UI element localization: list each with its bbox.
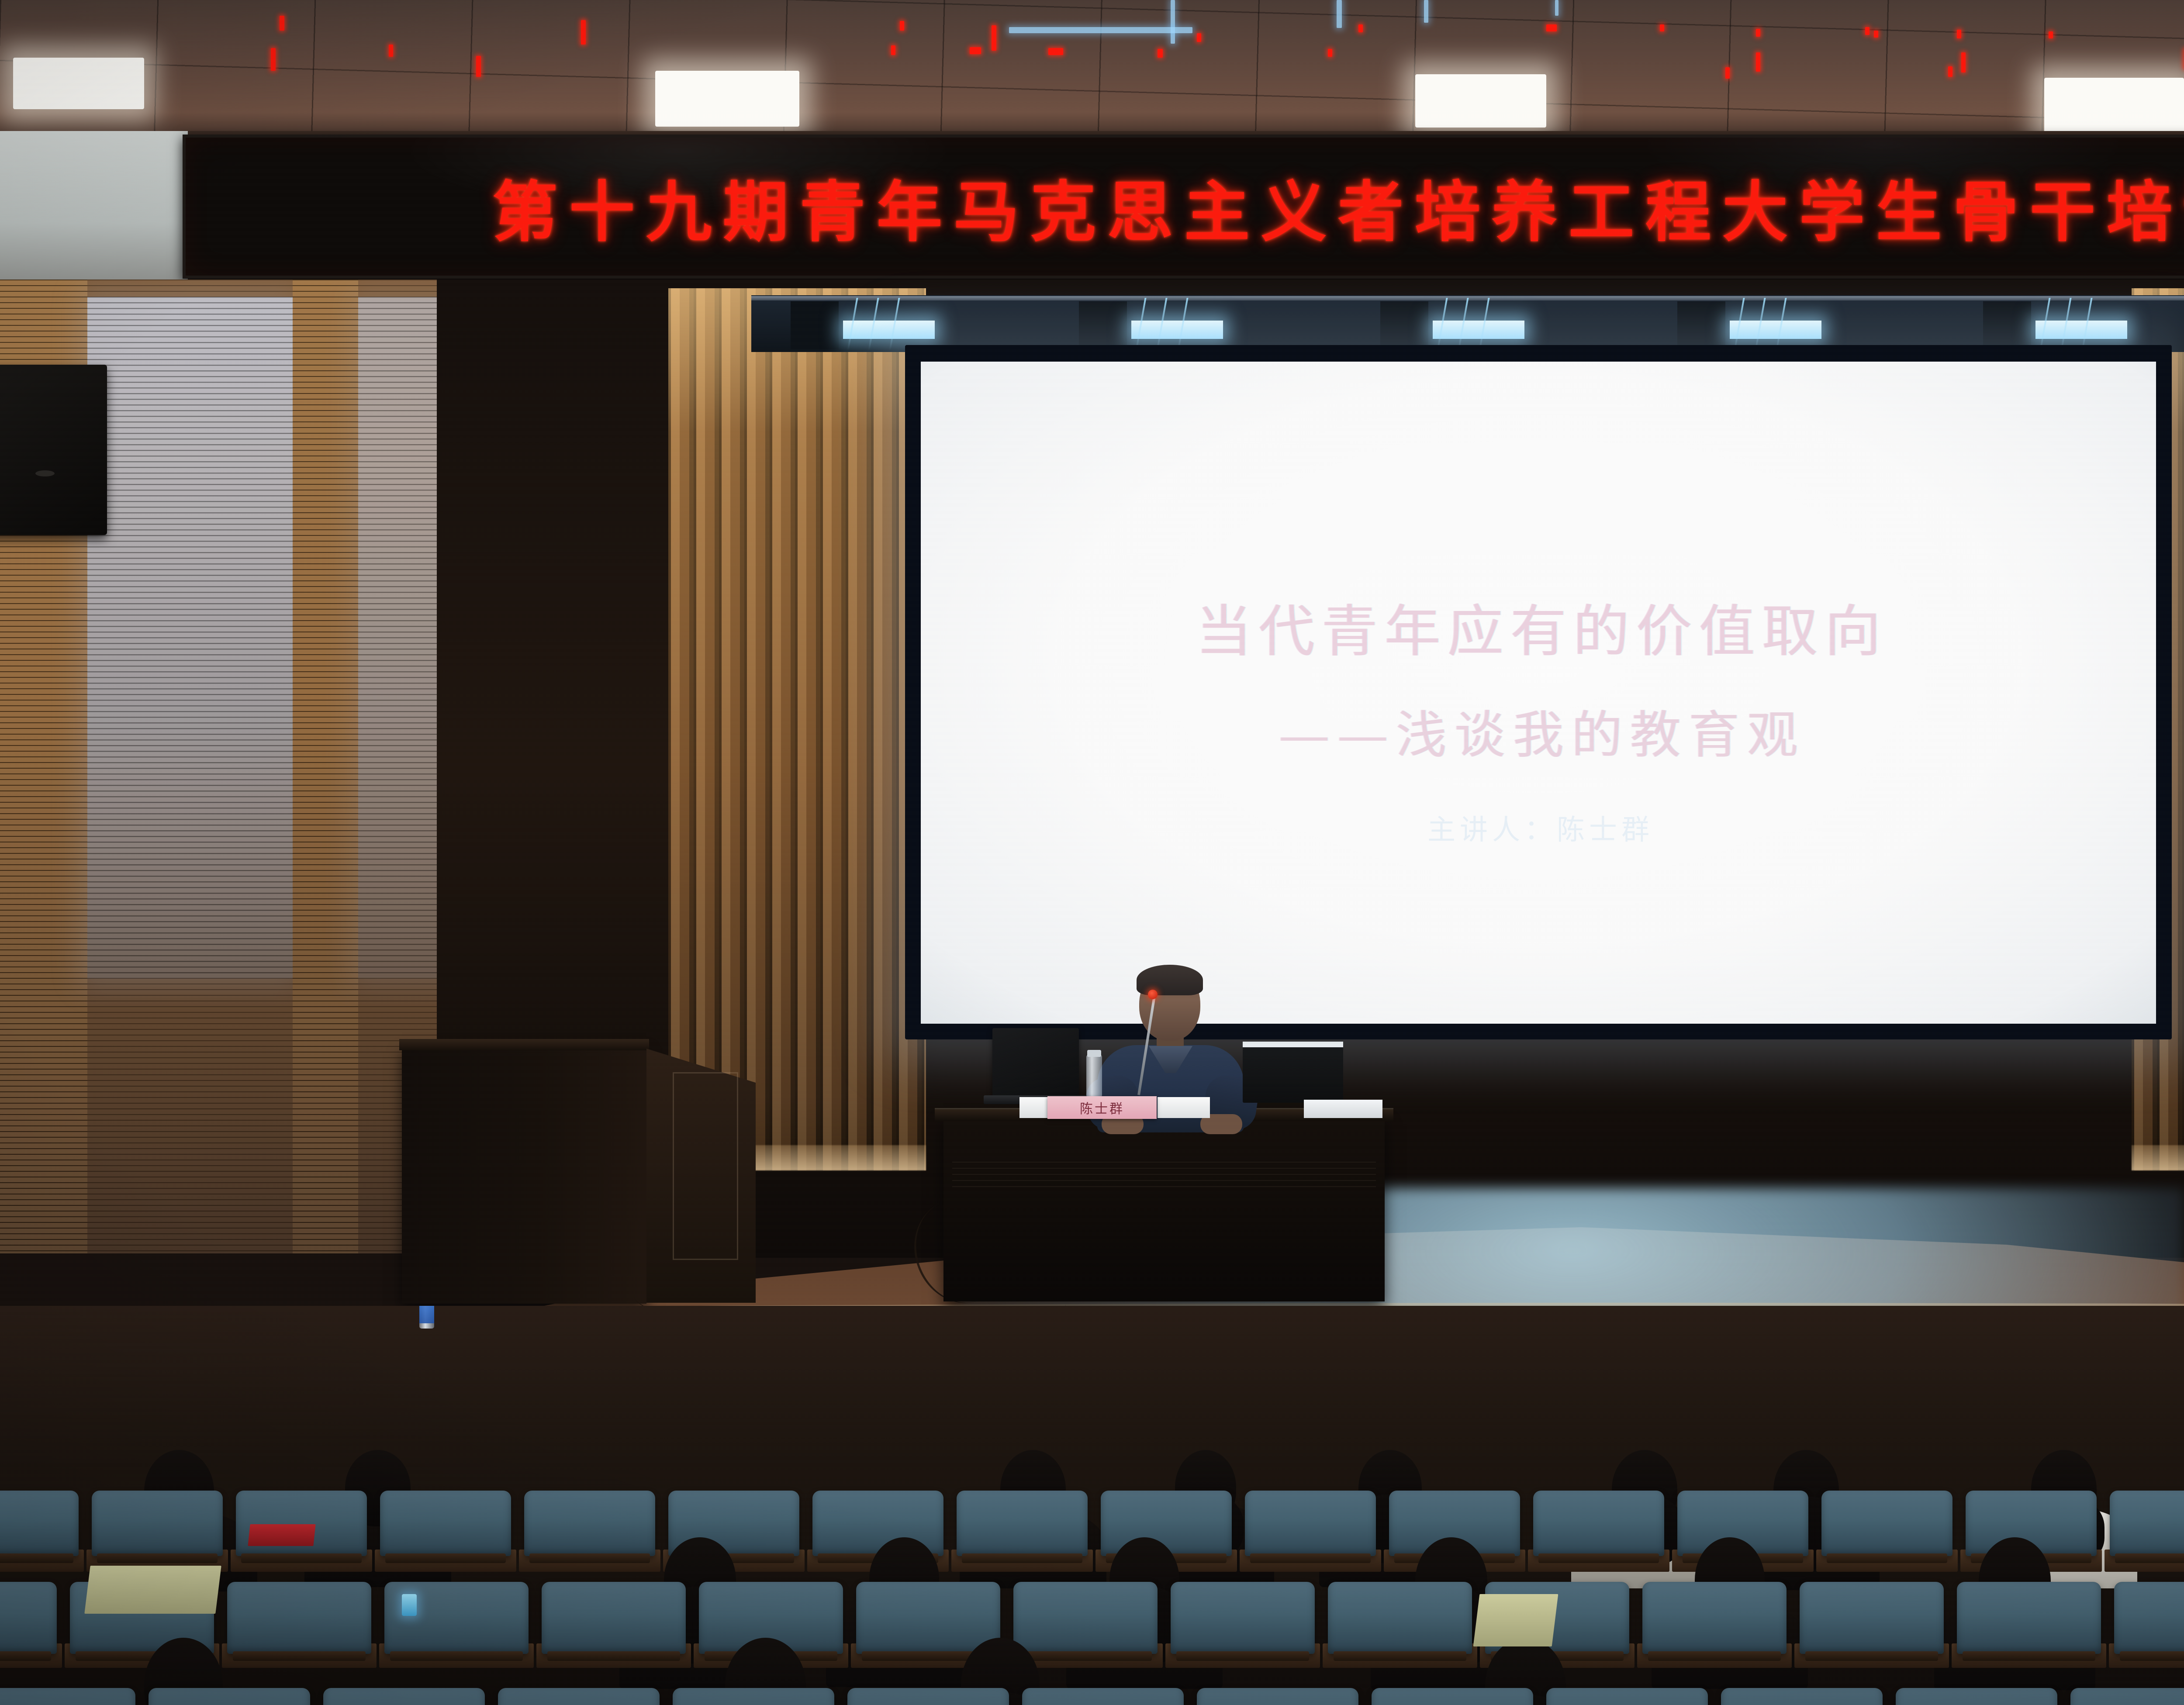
audience-seat (524, 1491, 655, 1556)
microphone-indicator-light (1148, 990, 1158, 999)
audience-seat (957, 1491, 1088, 1556)
truss-fixture-body-1 (791, 301, 839, 349)
ceiling-red-mark-7 (992, 25, 996, 51)
truss-lamp-2 (1131, 321, 1223, 339)
ceiling-blue-mark-4 (1009, 27, 1192, 33)
audience-seat (1197, 1688, 1358, 1705)
ceiling-blue-mark-5 (1555, 0, 1559, 16)
ceiling-light-3 (1415, 74, 1546, 128)
audience-seat (856, 1582, 1000, 1654)
ceiling-light-2 (655, 71, 799, 127)
audience-seat (1800, 1582, 1944, 1654)
left-side-wall (0, 280, 463, 1253)
audience-seat (1642, 1582, 1787, 1654)
ceiling-red-mark-6 (900, 21, 904, 31)
secondary-monitor (1243, 1044, 1343, 1103)
ceiling-red-mark-1 (280, 16, 284, 31)
ceiling-red-mark-12 (1158, 49, 1163, 58)
ceiling-red-mark-15 (1546, 24, 1557, 31)
ceiling-blue-mark-1 (1171, 0, 1175, 44)
slide-speaker-line: 主讲人：陈士群 (1423, 808, 1654, 848)
audience-seat (1957, 1582, 2101, 1654)
podium-top-surface (399, 1039, 649, 1050)
stage-podium (402, 1046, 646, 1304)
ceiling-blue-mark-3 (1424, 0, 1428, 23)
ceiling-red-mark-22 (1756, 52, 1760, 72)
audience-seat (227, 1582, 371, 1654)
audience-seat (323, 1688, 485, 1705)
audience-seat (2110, 1491, 2184, 1556)
ceiling-red-mark-25 (1948, 66, 1952, 77)
audience-seat (1328, 1582, 1472, 1654)
ceiling-red-mark-23 (1961, 52, 1966, 72)
audience-seat (1721, 1688, 1883, 1705)
audience-seat (1245, 1491, 1376, 1556)
ceiling-blue-mark-2 (1337, 0, 1342, 28)
audience-seat (1546, 1688, 1708, 1705)
audience-seat (236, 1491, 367, 1556)
truss-fixture-body-3 (1380, 301, 1428, 349)
presenter-water-bottle (1086, 1055, 1102, 1097)
stage-light-truss (751, 295, 2184, 352)
presenter-hair (1137, 965, 1203, 995)
audience-seat (1533, 1491, 1664, 1556)
presenter-table-skirt (952, 1162, 1376, 1188)
ceiling-red-mark-8 (1197, 33, 1201, 42)
ceiling (0, 0, 2184, 144)
truss-fixture-body-5 (1983, 301, 2031, 349)
curtain-hem-right (2132, 1145, 2184, 1170)
audience-seat (1821, 1491, 1952, 1556)
presenter-table (943, 1118, 1385, 1301)
ceiling-red-mark-20 (1957, 30, 1961, 38)
audience-seat (384, 1582, 529, 1654)
placard-secondary (1304, 1100, 1382, 1118)
audience-seat (1022, 1688, 1184, 1705)
audience-seat (2114, 1582, 2184, 1654)
audience-seat (542, 1582, 686, 1654)
podium-front-trim (673, 1072, 738, 1260)
truss-lamp-3 (1433, 321, 1524, 339)
audience-seat (92, 1491, 223, 1556)
projection-screen: 当代青年应有的价值取向 ——浅谈我的教育观 主讲人：陈士群 (921, 362, 2156, 1024)
ceiling-red-mark-19 (1874, 31, 1878, 38)
audience-seat (1171, 1582, 1315, 1654)
audience-seat (498, 1688, 660, 1705)
truss-fixture-body-2 (1079, 301, 1127, 349)
slide-subtitle: ——浅谈我的教育观 (1271, 694, 1806, 767)
auditorium-photo: 第十九期青年马克思主义者培养工程大学生骨干培训班专题报告 (0, 0, 2184, 1705)
red-booklet (248, 1524, 315, 1546)
truss-lamp-5 (2035, 321, 2127, 339)
audience-seat (0, 1491, 79, 1556)
audience-seat (380, 1491, 511, 1556)
ceiling-red-mark-4 (389, 45, 393, 57)
ceiling-red-mark-21 (2049, 31, 2053, 38)
projection-screen-frame: 当代青年应有的价值取向 ——浅谈我的教育观 主讲人：陈士群 (905, 345, 2172, 1039)
ceiling-red-mark-9 (891, 45, 895, 55)
audience-seat (1896, 1688, 2057, 1705)
audience-seat (673, 1688, 834, 1705)
ceiling-light-1 (13, 58, 144, 109)
placard-left-wing (1019, 1097, 1049, 1118)
truss-lamp-4 (1730, 321, 1821, 339)
audience-area (0, 1306, 2184, 1705)
placard-right-wing (1158, 1097, 1210, 1118)
phone-screen-glow (402, 1594, 417, 1616)
ceiling-red-mark-3 (271, 48, 276, 71)
paper-sheet (1473, 1594, 1559, 1646)
audience-seat (0, 1688, 135, 1705)
led-banner-text: 第十九期青年马克思主义者培养工程大学生骨干培训班专题报告 (186, 138, 2184, 276)
presenter-name-placard: 陈士群 (1047, 1096, 1157, 1119)
audience-seat (0, 1582, 57, 1654)
ceiling-red-mark-17 (1756, 29, 1760, 37)
ceiling-red-mark-14 (1358, 24, 1363, 32)
ceiling-red-mark-2 (581, 20, 586, 45)
audience-seat (1013, 1582, 1158, 1654)
led-banner: 第十九期青年马克思主义者培养工程大学生骨干培训班专题报告 (183, 135, 2184, 279)
slide-title: 当代青年应有的价值取向 (1189, 586, 1888, 667)
audience-seat (149, 1688, 310, 1705)
ceiling-red-mark-5 (476, 56, 481, 77)
presenter-water-bottle-cap (1087, 1050, 1101, 1057)
audience-seat (847, 1688, 1009, 1705)
audience-seat (2070, 1688, 2184, 1705)
ceiling-red-mark-16 (1660, 24, 1664, 31)
truss-fixture-body-4 (1677, 301, 1725, 349)
audience-seat (1372, 1688, 1533, 1705)
wall-left-white-panel (0, 131, 188, 284)
wall-speaker-left (0, 365, 107, 535)
audience-water-bottle-label (419, 1306, 434, 1323)
ceiling-red-mark-13 (1328, 49, 1332, 57)
open-notebook (84, 1566, 221, 1614)
stage-curtain-left (668, 288, 926, 1170)
ceiling-tile-grid (0, 0, 2184, 144)
ceiling-red-mark-24 (1725, 67, 1730, 79)
slide-content: 当代青年应有的价值取向 ——浅谈我的教育观 主讲人：陈士群 (921, 362, 2156, 1024)
laptop-screen (992, 1028, 1079, 1096)
truss-lamp-1 (843, 321, 935, 339)
ceiling-red-mark-10 (970, 47, 981, 54)
ceiling-red-mark-11 (1048, 48, 1063, 55)
ceiling-red-mark-18 (1865, 27, 1870, 35)
ceiling-light-4 (2044, 78, 2184, 133)
